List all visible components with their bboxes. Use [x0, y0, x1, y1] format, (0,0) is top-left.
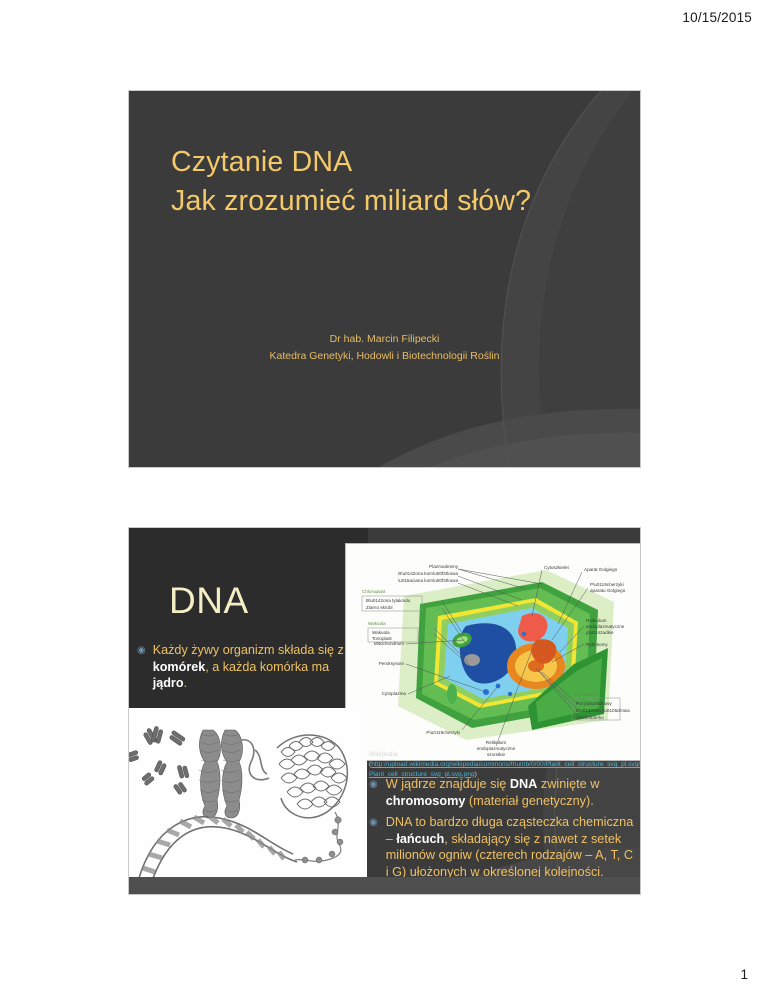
cell-label: Plazmodesmy [429, 564, 459, 569]
cell-label: B\u0142ona kom\u00f3rkowa [398, 571, 458, 576]
cell-label: g\u0142adkie [586, 630, 614, 635]
cell-label: Por j\u0105drowy [576, 701, 612, 706]
cell-label: endoplazmatyczne [586, 624, 625, 629]
slide1-author: Dr hab. Marcin Filipecki [129, 331, 640, 348]
cell-label: B\u0142ona j\u0105drowa [576, 708, 630, 713]
cell-label: Wakuola [372, 630, 390, 635]
bt-p3: . [184, 676, 188, 690]
slide2-bullet-1-text: W jądrze znajduje się DNA zwinięte w chr… [386, 776, 639, 809]
slide-dna[interactable]: DNA ◉ Każdy żywy organizm składa się z k… [129, 528, 640, 894]
cell-label: Wakuola [368, 621, 386, 626]
page-number: 1 [740, 967, 748, 982]
cell-label: Mitochondrium [374, 641, 404, 646]
slide1-affiliation: Katedra Genetyki, Hodowli i Biotechnolog… [129, 348, 640, 365]
cell-label: Rybosomy [586, 642, 608, 647]
b1-p3: (materiał genetyczny). [465, 794, 593, 808]
slide-title[interactable]: Czytanie DNA Jak zrozumieć miliard słów?… [129, 91, 640, 467]
bullet-marker-icon: ◉ [369, 776, 378, 809]
cell-label: Peroksysom [379, 661, 404, 666]
cell-label: P\u0119cherzyki [426, 730, 460, 735]
b2-b1: łańcuch [396, 832, 444, 846]
slide1-subtitle: Dr hab. Marcin Filipecki Katedra Genetyk… [129, 331, 640, 365]
cell-label: Retikulum [486, 740, 507, 745]
slide2-title: DNA [169, 580, 249, 622]
bullet-marker-icon: ◉ [137, 642, 146, 692]
bt-b2: jądro [153, 676, 184, 690]
slide2-bullet-top-text: Każdy żywy organizm składa się z komórek… [153, 642, 365, 692]
cell-label: Chloroplast [362, 589, 386, 594]
slide2-bullet-top: ◉ Każdy żywy organizm składa się z komór… [137, 642, 365, 692]
cell-label: Cytoplazma [382, 691, 407, 696]
cell-label: aparatu Golgiego [590, 588, 626, 593]
cell-label: Aparat Golgiego [584, 567, 618, 572]
bt-b1: komórek [153, 660, 206, 674]
cell-label: B\u0142ona tylakoidu [366, 598, 411, 603]
bt-p1: Każdy żywy organizm składa się z [153, 643, 344, 657]
cell-label: Retikulum [586, 618, 607, 623]
slide2-footer-band [129, 877, 640, 894]
slide2-bullet-2-text: DNA to bardzo długa cząsteczka chemiczna… [386, 814, 639, 880]
cell-label: Cytoszkielet [544, 565, 569, 570]
b1-p1: W jądrze znajduje się [386, 777, 510, 791]
cell-label: Ziarno skrobi [366, 605, 393, 610]
slide1-title-line1: Czytanie DNA [171, 143, 601, 182]
list-item: ◉ DNA to bardzo długa cząsteczka chemicz… [369, 814, 639, 880]
page-date: 10/15/2015 [682, 10, 752, 25]
slide1-title: Czytanie DNA Jak zrozumieć miliard słów? [171, 143, 601, 222]
cell-label: J\u0105dro [574, 692, 597, 697]
slide1-title-line2: Jak zrozumieć miliard słów? [171, 182, 601, 221]
chromosome-dna-diagram [129, 708, 367, 886]
b1-b1: DNA [510, 777, 538, 791]
cell-label: P\u0119cherzyki [590, 582, 624, 587]
bullet-marker-icon: ◉ [369, 814, 378, 880]
list-item: ◉ W jądrze znajduje się DNA zwinięte w c… [369, 776, 639, 809]
b1-b2: chromosomy [386, 794, 466, 808]
plant-cell-diagram: Plazmodesmy B\u0142ona kom\u00f3rkowa \u… [346, 544, 640, 760]
cell-label: \u015aciana kom\u00f3rkowa [398, 578, 458, 583]
b1-p2: zwinięte w [537, 777, 599, 791]
slide2-bullet-list: ◉ W jądrze znajduje się DNA zwinięte w c… [369, 776, 639, 885]
bt-p2: , a każda komórka ma [205, 660, 329, 674]
cell-label: J\u0105derko [576, 715, 604, 720]
